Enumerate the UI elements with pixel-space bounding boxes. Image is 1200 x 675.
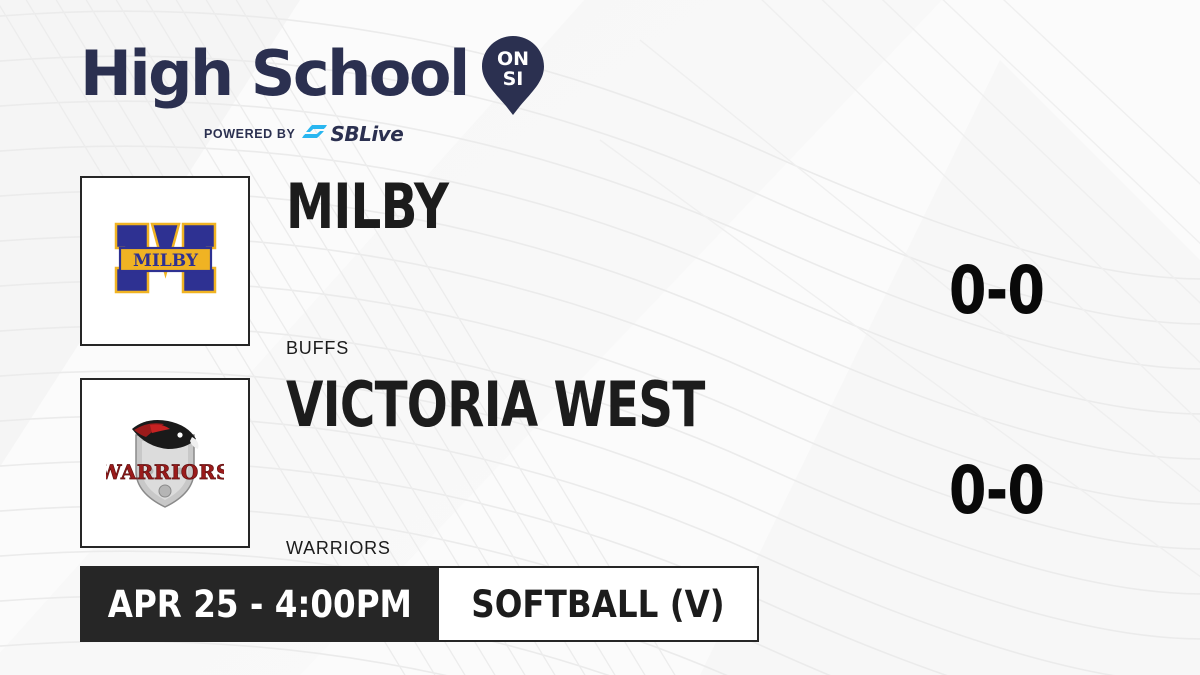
brand-title-row: High School ON SI [80,34,544,114]
sblive-logo: SBLive [302,122,403,146]
sblive-s-icon [302,124,328,145]
game-info-bar: APR 25 - 4:00PM SOFTBALL (V) [80,566,759,642]
game-sport-block: SOFTBALL (V) [439,566,759,642]
warriors-logo-text: WARRIORS [106,460,224,484]
team-logo-box-2: WARRIORS [80,378,250,548]
team-record-1: 0-0 [949,258,1044,324]
victoria-west-warriors-logo: WARRIORS [106,413,224,513]
team-logo-box-1: MILBY [80,176,250,346]
on-si-pin-icon: ON SI [482,36,544,116]
game-datetime: APR 25 - 4:00PM [107,583,411,626]
brand-header: High School ON SI POWERED BY SBLive [80,34,544,146]
team-mascot-2: WARRIORS [286,538,391,559]
pin-badge-bottom: SI [502,68,523,90]
milby-buffs-logo: MILBY [108,218,223,304]
page-title: High School [80,45,468,102]
pin-badge-top: ON [497,48,529,70]
game-datetime-block: APR 25 - 4:00PM [80,566,439,642]
team-mascot-1: BUFFS [286,338,349,359]
game-sport: SOFTBALL (V) [471,583,724,626]
team-record-2: 0-0 [949,458,1044,524]
powered-by-label: POWERED BY [204,127,295,141]
sblive-wordmark: SBLive [330,122,403,146]
milby-logo-text: MILBY [133,251,199,271]
team-name-1: MILBY [286,176,448,238]
powered-by-row: POWERED BY SBLive [80,122,544,146]
team-name-2: VICTORIA WEST [286,374,705,436]
